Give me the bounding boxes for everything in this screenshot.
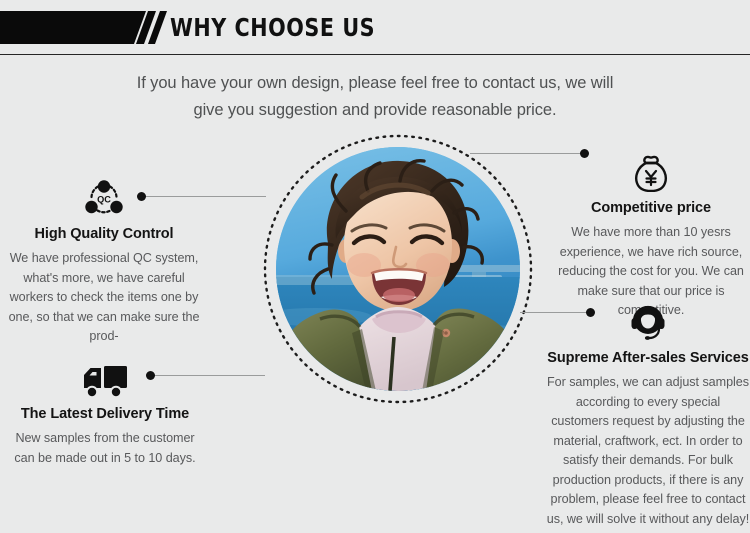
intro-text: If you have your own design, please feel… [95,70,655,124]
feature-icon-wrap [552,150,750,192]
headset-support-icon [628,302,668,342]
feature-high-quality-control: QC High Quality Control We have professi… [0,176,208,347]
child-portrait-illustration [276,147,520,391]
intro-line-1: If you have your own design, please feel… [95,70,655,97]
feature-title: Competitive price [552,200,750,216]
feature-body: We have professional QC system, what's m… [0,249,208,347]
feature-icon-wrap [546,300,750,342]
header-divider [0,54,750,55]
feature-body: New samples from the customer can be mad… [10,429,200,468]
intro-line-2: give you suggestion and provide reasonab… [95,97,655,124]
feature-icon-wrap [10,356,200,398]
child-portrait-image [276,147,520,391]
qc-circles-icon: QC [84,180,124,218]
feature-title: The Latest Delivery Time [10,406,200,422]
page-header: WHY CHOOSE US [0,0,750,55]
header-accent-bar [0,11,146,44]
qc-icon-label: QC [97,195,111,205]
feature-latest-delivery-time: The Latest Delivery Time New samples fro… [10,356,200,468]
feature-supreme-after-sales-services: Supreme After-sales Services For samples… [546,300,750,529]
money-bag-yen-icon [632,152,670,192]
feature-title: Supreme After-sales Services [546,350,750,366]
center-photo [262,133,534,405]
page-title: WHY CHOOSE US [170,11,375,44]
delivery-truck-icon [81,364,129,398]
feature-competitive-price: Competitive price We have more than 10 y… [552,150,750,321]
feature-body: For samples, we can adjust samples accor… [546,373,750,529]
feature-title: High Quality Control [0,226,208,242]
feature-icon-wrap: QC [0,176,208,218]
